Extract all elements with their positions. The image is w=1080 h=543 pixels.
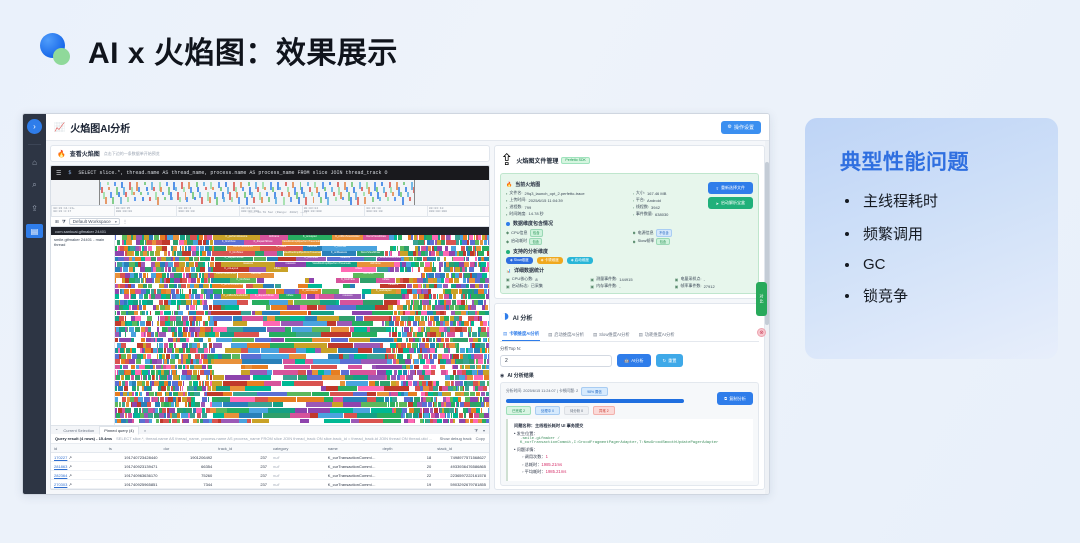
flame-slice[interactable] xyxy=(404,327,410,332)
flame-slice[interactable] xyxy=(287,305,300,310)
flame-slice[interactable] xyxy=(147,354,151,359)
flame-slice[interactable] xyxy=(377,267,389,272)
flame-slice[interactable] xyxy=(405,359,410,364)
flame-slice[interactable] xyxy=(436,397,437,402)
flame-slice[interactable] xyxy=(124,294,129,299)
flame-slice[interactable] xyxy=(222,354,231,359)
flame-slice[interactable] xyxy=(268,397,296,402)
flame-slice[interactable] xyxy=(199,321,201,326)
flame-slice[interactable] xyxy=(124,262,129,267)
flame-slice[interactable] xyxy=(115,392,120,397)
flame-slice[interactable] xyxy=(487,262,489,267)
flame-slice[interactable] xyxy=(474,348,479,353)
flame-slice[interactable] xyxy=(202,413,208,418)
flame-slice[interactable] xyxy=(488,338,489,343)
flame-slice[interactable] xyxy=(208,354,214,359)
flame-slice[interactable] xyxy=(331,370,340,375)
flame-slice[interactable] xyxy=(252,300,269,305)
flame-slice[interactable] xyxy=(127,251,132,256)
flame-slice[interactable] xyxy=(469,359,474,364)
start-parse-button[interactable]: ➤启动解析宝盒 xyxy=(708,197,753,209)
flame-slice[interactable] xyxy=(203,343,206,348)
flame-slice[interactable] xyxy=(115,294,119,299)
flame-slice[interactable] xyxy=(414,397,419,402)
flame-slice[interactable] xyxy=(391,381,396,386)
flame-slice[interactable] xyxy=(236,289,246,294)
flame-slice[interactable] xyxy=(330,392,353,397)
flame-slice[interactable] xyxy=(362,294,365,299)
flame-slice[interactable] xyxy=(328,343,354,348)
flame-slice[interactable] xyxy=(398,348,403,353)
menu-icon[interactable]: ☰ xyxy=(56,170,61,177)
flame-slice[interactable] xyxy=(402,332,407,337)
flame-slice[interactable] xyxy=(478,251,483,256)
flame-slice[interactable] xyxy=(373,348,386,353)
flame-slice[interactable] xyxy=(454,262,459,267)
flame-slice[interactable] xyxy=(275,284,281,289)
flame-slice[interactable] xyxy=(225,348,241,353)
table-row[interactable]: 270303 ↗1917409259658517344237nullK_curT… xyxy=(51,480,489,489)
flame-slice[interactable] xyxy=(279,392,287,397)
flame-slice[interactable] xyxy=(471,321,475,326)
flame-slice[interactable] xyxy=(420,262,425,267)
flame-slice[interactable] xyxy=(471,327,472,332)
flame-slice[interactable] xyxy=(450,235,451,240)
view-flamegraph-bar[interactable]: 🔥 查看火焰图 点击下边的一条数据单开始预览 xyxy=(50,145,490,162)
flame-slice[interactable] xyxy=(343,354,349,359)
flame-slice[interactable] xyxy=(200,267,205,272)
flame-slice[interactable] xyxy=(361,359,386,364)
flame-slice[interactable] xyxy=(146,321,152,326)
flame-slice[interactable] xyxy=(187,370,192,375)
flame-slice[interactable] xyxy=(157,338,162,343)
flame-slice[interactable] xyxy=(179,257,184,262)
flame-slice[interactable] xyxy=(134,413,140,418)
flame-slice[interactable] xyxy=(321,348,338,353)
flame-slice[interactable] xyxy=(192,343,197,348)
flame-slice[interactable] xyxy=(367,392,376,397)
flame-slice[interactable] xyxy=(166,365,171,370)
flame-slice[interactable] xyxy=(488,348,489,353)
flame-slice[interactable] xyxy=(460,332,463,337)
flame-slice[interactable] xyxy=(121,354,126,359)
flame-slice[interactable] xyxy=(204,300,207,305)
flame-slice[interactable] xyxy=(118,257,124,262)
flame-slice[interactable] xyxy=(223,392,232,397)
flame-slice[interactable] xyxy=(471,408,476,413)
workspace-more-icon[interactable]: ⋮ xyxy=(123,219,128,225)
flame-slice[interactable] xyxy=(207,289,212,294)
flame-slice[interactable] xyxy=(330,408,353,413)
flame-slice[interactable] xyxy=(155,402,160,407)
flame-slice[interactable] xyxy=(423,386,429,391)
flame-slice[interactable] xyxy=(478,386,483,391)
flame-slice[interactable] xyxy=(296,332,320,337)
flame-slice[interactable] xyxy=(175,354,179,359)
flame-slice[interactable] xyxy=(205,327,210,332)
flame-slice[interactable] xyxy=(324,370,331,375)
flame-slice[interactable] xyxy=(193,381,199,386)
flame-slice[interactable] xyxy=(160,305,165,310)
flame-slice[interactable] xyxy=(469,311,475,316)
flame-slice[interactable]: K_performResume xyxy=(221,284,243,289)
flame-slice[interactable] xyxy=(484,397,488,402)
flame-slice[interactable] xyxy=(356,316,363,321)
flame-slice[interactable] xyxy=(186,375,191,380)
flame-slice[interactable] xyxy=(233,316,242,321)
flame-slice[interactable] xyxy=(424,294,429,299)
flame-slice[interactable] xyxy=(468,257,469,262)
flame-slice[interactable] xyxy=(439,262,444,267)
flame-slice[interactable] xyxy=(234,332,259,337)
flame-slice[interactable] xyxy=(209,348,210,353)
flame-slice[interactable] xyxy=(203,305,209,310)
flame-slice[interactable] xyxy=(481,327,486,332)
flame-slice[interactable] xyxy=(396,316,401,321)
flame-slice[interactable] xyxy=(430,348,435,353)
flame-slice[interactable] xyxy=(220,332,234,337)
flame-slice[interactable] xyxy=(408,419,413,424)
col-category[interactable]: category xyxy=(270,444,325,453)
flame-slice[interactable] xyxy=(451,284,456,289)
results-filter-icon[interactable]: ⧩ xyxy=(474,428,478,433)
flame-slice[interactable] xyxy=(263,321,280,326)
flame-slice[interactable] xyxy=(317,316,339,321)
flame-slice[interactable]: DecorView#draw xyxy=(357,251,385,256)
flame-slice[interactable] xyxy=(181,284,186,289)
flame-slice[interactable] xyxy=(449,343,455,348)
flame-slice[interactable] xyxy=(170,316,176,321)
flame-slice[interactable] xyxy=(118,386,124,391)
flame-slice[interactable] xyxy=(459,419,464,424)
flame-slice[interactable] xyxy=(174,278,180,283)
flame-slice[interactable] xyxy=(487,327,489,332)
flame-slice[interactable] xyxy=(466,300,467,305)
flame-slice[interactable] xyxy=(424,375,429,380)
flame-slice[interactable] xyxy=(384,300,397,305)
flame-slice[interactable] xyxy=(208,365,212,370)
flame-slice[interactable] xyxy=(406,262,411,267)
flame-slice[interactable] xyxy=(136,235,142,240)
flame-slice[interactable] xyxy=(258,289,266,294)
flame-slice[interactable] xyxy=(462,289,467,294)
flame-slice[interactable] xyxy=(429,257,435,262)
flame-slice[interactable] xyxy=(145,257,151,262)
flame-slice[interactable] xyxy=(157,327,159,332)
flame-slice[interactable] xyxy=(430,359,433,364)
flame-slice[interactable] xyxy=(135,257,141,262)
flame-slice[interactable] xyxy=(488,284,489,289)
flame-slice[interactable] xyxy=(305,359,313,364)
flame-slice[interactable] xyxy=(486,294,489,299)
collapse-icon[interactable]: ⊞ xyxy=(55,219,59,225)
flame-slice[interactable] xyxy=(380,381,391,386)
flame-slice[interactable] xyxy=(178,327,183,332)
flame-slice[interactable] xyxy=(470,284,475,289)
flame-slice[interactable] xyxy=(423,300,429,305)
flame-slice[interactable] xyxy=(306,348,315,353)
flame-slice[interactable] xyxy=(150,311,152,316)
flame-slice[interactable] xyxy=(141,262,145,267)
flame-slice[interactable] xyxy=(180,235,186,240)
flame-slice[interactable] xyxy=(242,316,262,321)
flame-slice[interactable] xyxy=(148,413,153,418)
flame-slice[interactable] xyxy=(372,311,393,316)
flame-slice[interactable]: K_bindView xyxy=(230,278,256,283)
flame-slice[interactable] xyxy=(151,273,156,278)
flame-slice[interactable] xyxy=(166,354,171,359)
flame-slice[interactable] xyxy=(173,375,179,380)
flame-slice[interactable] xyxy=(193,240,198,245)
flame-slice[interactable] xyxy=(441,235,446,240)
cell-id[interactable]: 270303 ↗ xyxy=(51,480,106,489)
flame-slice[interactable] xyxy=(141,338,146,343)
flame-slice[interactable] xyxy=(487,235,488,240)
reset-button[interactable]: ↻ 重置 xyxy=(656,354,684,367)
flame-slice[interactable] xyxy=(147,402,151,407)
flame-slice[interactable] xyxy=(446,402,451,407)
flame-slice[interactable] xyxy=(453,289,458,294)
flame-slice[interactable] xyxy=(383,419,401,424)
flame-slice[interactable] xyxy=(464,273,470,278)
flame-slice[interactable] xyxy=(414,408,420,413)
flame-slice[interactable]: DecorView#draw xyxy=(227,246,260,251)
flame-slice[interactable] xyxy=(424,408,429,413)
flame-slice[interactable] xyxy=(288,300,293,305)
flame-slice[interactable] xyxy=(264,251,277,256)
flame-slice[interactable]: K_onBindViewHolder xyxy=(332,235,363,240)
flame-slice[interactable] xyxy=(453,332,454,337)
flame-slice[interactable] xyxy=(340,300,364,305)
flame-slice[interactable] xyxy=(119,316,124,321)
flame-slice[interactable] xyxy=(180,338,186,343)
flame-slice[interactable]: K_onBindViewHolder xyxy=(221,294,249,299)
flame-slice[interactable]: doFrame xyxy=(353,273,384,278)
flame-slice[interactable] xyxy=(446,359,451,364)
flame-slice[interactable] xyxy=(140,392,142,397)
flame-slice[interactable] xyxy=(255,338,271,343)
flame-slice[interactable] xyxy=(439,267,441,272)
flame-slice[interactable] xyxy=(124,289,129,294)
flame-slice[interactable] xyxy=(484,413,488,418)
reselect-file-button[interactable]: ⇪重新选择文件 xyxy=(708,182,753,194)
table-row[interactable]: 170227 ↗1917407234284401901206492237null… xyxy=(51,453,489,462)
flame-slice[interactable]: measure xyxy=(275,262,305,267)
flame-slice[interactable] xyxy=(131,338,135,343)
flame-slice[interactable] xyxy=(247,381,264,386)
flame-slice[interactable] xyxy=(257,278,265,283)
flame-slice[interactable] xyxy=(423,365,429,370)
flame-slice[interactable] xyxy=(371,408,392,413)
flame-slice[interactable]: K_bindView xyxy=(296,257,326,262)
flame-slice[interactable] xyxy=(368,375,385,380)
flame-slice[interactable] xyxy=(152,359,157,364)
flame-slice[interactable] xyxy=(318,413,343,418)
flame-slice[interactable] xyxy=(223,289,236,294)
flame-slice[interactable] xyxy=(150,251,155,256)
flame-slice[interactable] xyxy=(115,365,120,370)
flame-slice[interactable] xyxy=(119,332,121,337)
flame-slice[interactable] xyxy=(277,251,283,256)
flame-slice[interactable] xyxy=(253,284,263,289)
flame-slice[interactable] xyxy=(313,359,340,364)
flame-slice[interactable] xyxy=(468,316,473,321)
process-track-header[interactable]: com.sankuai.gifmaker 24401 xyxy=(51,227,489,235)
flame-slice[interactable] xyxy=(424,240,425,245)
flame-slice[interactable] xyxy=(214,359,242,364)
flame-slice[interactable] xyxy=(367,397,376,402)
flame-slice[interactable] xyxy=(432,235,438,240)
flame-slice[interactable] xyxy=(275,316,289,321)
sidebar-item-home[interactable]: ⌂ xyxy=(26,155,43,169)
flame-slice[interactable] xyxy=(427,311,433,316)
flame-slice[interactable] xyxy=(426,397,431,402)
flame-slice[interactable] xyxy=(187,240,193,245)
flame-slice[interactable] xyxy=(173,235,178,240)
tab-卡顿维度AI分析[interactable]: ▤卡顿维度AI分析 xyxy=(502,329,540,341)
flame-slice[interactable] xyxy=(348,365,362,370)
flame-slice[interactable]: K_inflate xyxy=(260,246,303,251)
flame-slice[interactable] xyxy=(148,408,152,413)
flame-slice[interactable]: K_dispatchDraw xyxy=(250,294,278,299)
flame-slice[interactable] xyxy=(267,327,285,332)
flame-slice[interactable] xyxy=(153,397,158,402)
flame-slice[interactable] xyxy=(142,300,147,305)
flame-slice[interactable] xyxy=(157,359,162,364)
flame-slice[interactable] xyxy=(233,392,257,397)
flame-slice[interactable] xyxy=(271,338,284,343)
flame-slice[interactable] xyxy=(311,311,334,316)
flame-slice[interactable] xyxy=(474,375,479,380)
flame-slice[interactable] xyxy=(487,251,489,256)
flame-slice[interactable] xyxy=(131,332,136,337)
flame-slice[interactable] xyxy=(196,316,202,321)
flame-slice[interactable] xyxy=(154,235,160,240)
flamegraph-slices[interactable]: K_performResumedoFrameK_onLayoutK_onBind… xyxy=(115,235,489,425)
flame-slice[interactable] xyxy=(125,332,126,337)
flame-slice[interactable] xyxy=(465,267,467,272)
flame-slice[interactable] xyxy=(326,305,332,310)
flame-slice[interactable] xyxy=(435,348,437,353)
flame-slice[interactable] xyxy=(362,289,371,294)
flame-slice[interactable] xyxy=(251,413,262,418)
flame-slice[interactable] xyxy=(176,267,181,272)
flamegraph-canvas-area[interactable]: smile.gifmaker 24401 - main thread K_per… xyxy=(51,235,489,425)
flame-slice[interactable] xyxy=(391,251,392,256)
flame-slice[interactable] xyxy=(284,365,310,370)
flame-slice[interactable] xyxy=(242,359,255,364)
flame-slice[interactable] xyxy=(484,273,487,278)
flame-slice[interactable] xyxy=(376,397,384,402)
flame-slice[interactable] xyxy=(255,359,282,364)
flame-slice[interactable] xyxy=(123,305,129,310)
flame-slice[interactable] xyxy=(410,370,415,375)
flame-slice[interactable] xyxy=(223,402,248,407)
flame-slice[interactable] xyxy=(469,267,474,272)
flame-slice[interactable] xyxy=(248,348,261,353)
flame-slice[interactable] xyxy=(413,240,418,245)
flame-slice[interactable] xyxy=(402,408,407,413)
flame-slice[interactable] xyxy=(327,321,336,326)
flame-slice[interactable] xyxy=(115,235,116,240)
flame-slice[interactable] xyxy=(312,338,330,343)
flame-slice[interactable] xyxy=(252,365,267,370)
flame-slice[interactable] xyxy=(390,343,396,348)
flame-slice[interactable] xyxy=(225,305,239,310)
flame-slice[interactable] xyxy=(424,354,429,359)
flame-slice[interactable] xyxy=(405,311,410,316)
flame-slice[interactable] xyxy=(196,311,201,316)
flame-slice[interactable]: doFrame xyxy=(260,235,287,240)
flame-slice[interactable] xyxy=(487,332,488,337)
flame-slice[interactable] xyxy=(412,343,417,348)
flame-slice[interactable] xyxy=(283,375,297,380)
flame-slice[interactable] xyxy=(140,267,145,272)
flame-slice[interactable] xyxy=(121,343,126,348)
flame-slice[interactable] xyxy=(117,240,120,245)
flame-slice[interactable] xyxy=(481,408,482,413)
flame-slice[interactable] xyxy=(422,348,427,353)
flame-slice[interactable] xyxy=(465,386,469,391)
flame-slice[interactable] xyxy=(420,359,426,364)
flame-slice[interactable] xyxy=(486,365,488,370)
flame-slice[interactable] xyxy=(424,413,429,418)
flame-slice[interactable] xyxy=(156,365,161,370)
flame-slice[interactable] xyxy=(384,386,409,391)
flame-slice[interactable] xyxy=(332,402,343,407)
flame-slice[interactable] xyxy=(212,370,214,375)
flame-slice[interactable] xyxy=(444,316,449,321)
flame-slice[interactable] xyxy=(279,348,295,353)
flame-slice[interactable] xyxy=(487,381,488,386)
flame-slice[interactable] xyxy=(119,327,125,332)
flame-slice[interactable] xyxy=(470,397,476,402)
flame-slice[interactable] xyxy=(456,284,461,289)
flame-slice[interactable] xyxy=(294,381,322,386)
close-float-badge[interactable]: ⊗ xyxy=(757,328,766,337)
flame-slice[interactable] xyxy=(161,375,167,380)
flame-slice[interactable] xyxy=(115,278,116,283)
flame-slice[interactable] xyxy=(345,305,356,310)
flame-slice[interactable] xyxy=(163,419,169,424)
flame-slice[interactable] xyxy=(486,343,489,348)
flame-slice[interactable] xyxy=(430,343,436,348)
flame-slice[interactable] xyxy=(410,354,411,359)
flame-slice[interactable] xyxy=(467,375,472,380)
flame-slice[interactable] xyxy=(398,235,402,240)
flame-slice[interactable] xyxy=(290,413,310,418)
flame-slice[interactable] xyxy=(312,370,317,375)
flame-slice[interactable] xyxy=(285,338,312,343)
flame-slice[interactable] xyxy=(353,375,368,380)
flame-slice[interactable] xyxy=(233,321,247,326)
flame-slice[interactable] xyxy=(285,327,291,332)
flame-slice[interactable] xyxy=(487,246,488,251)
flame-slice[interactable]: measure xyxy=(221,262,275,267)
flame-slice[interactable] xyxy=(455,392,461,397)
flame-slice[interactable] xyxy=(287,392,311,397)
flame-slice[interactable] xyxy=(473,419,478,424)
flame-slice[interactable] xyxy=(145,348,151,353)
flame-slice[interactable] xyxy=(138,397,143,402)
flame-slice[interactable] xyxy=(241,370,250,375)
sidebar-avatar[interactable]: › xyxy=(27,119,42,134)
flame-slice[interactable] xyxy=(351,419,359,424)
flame-slice[interactable] xyxy=(160,316,165,321)
flame-slice[interactable] xyxy=(121,311,126,316)
flame-slice[interactable] xyxy=(200,257,205,262)
flame-slice[interactable] xyxy=(125,338,131,343)
